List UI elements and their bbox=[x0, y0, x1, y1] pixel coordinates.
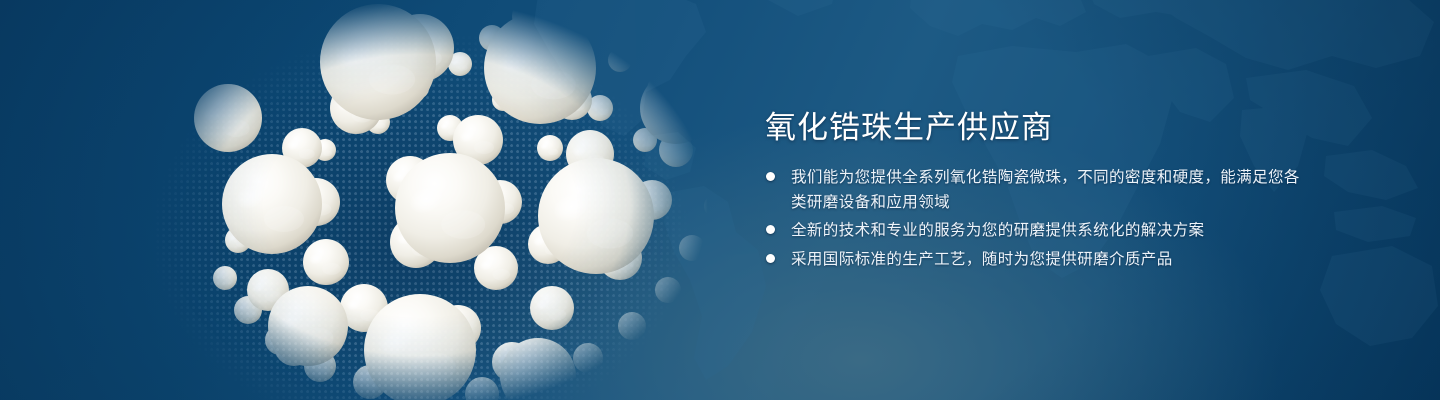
hero-banner: 氧化锆珠生产供应商 我们能为您提供全系列氧化锆陶瓷微珠，不同的密度和硬度，能满足… bbox=[0, 0, 1440, 400]
feature-text: 全新的技术和专业的服务为您的研磨提供系统化的解决方案 bbox=[791, 219, 1305, 244]
feature-text: 我们能为您提供全系列氧化锆陶瓷微珠，不同的密度和硬度，能满足您各类研磨设备和应用… bbox=[791, 166, 1305, 215]
feature-list: 我们能为您提供全系列氧化锆陶瓷微珠，不同的密度和硬度，能满足您各类研磨设备和应用… bbox=[765, 166, 1305, 276]
bullet-dot-icon bbox=[766, 254, 775, 263]
zirconia-beads-photo bbox=[120, 0, 740, 400]
feature-text: 采用国际标准的生产工艺，随时为您提供研磨介质产品 bbox=[791, 248, 1305, 273]
page-title: 氧化锆珠生产供应商 bbox=[765, 108, 1053, 148]
banner-content: 氧化锆珠生产供应商 我们能为您提供全系列氧化锆陶瓷微珠，不同的密度和硬度，能满足… bbox=[765, 0, 1325, 400]
bullet-dot-icon bbox=[766, 225, 775, 234]
bullet-dot-icon bbox=[766, 172, 775, 181]
list-item: 全新的技术和专业的服务为您的研磨提供系统化的解决方案 bbox=[765, 219, 1305, 244]
list-item: 采用国际标准的生产工艺，随时为您提供研磨介质产品 bbox=[765, 248, 1305, 273]
list-item: 我们能为您提供全系列氧化锆陶瓷微珠，不同的密度和硬度，能满足您各类研磨设备和应用… bbox=[765, 166, 1305, 215]
